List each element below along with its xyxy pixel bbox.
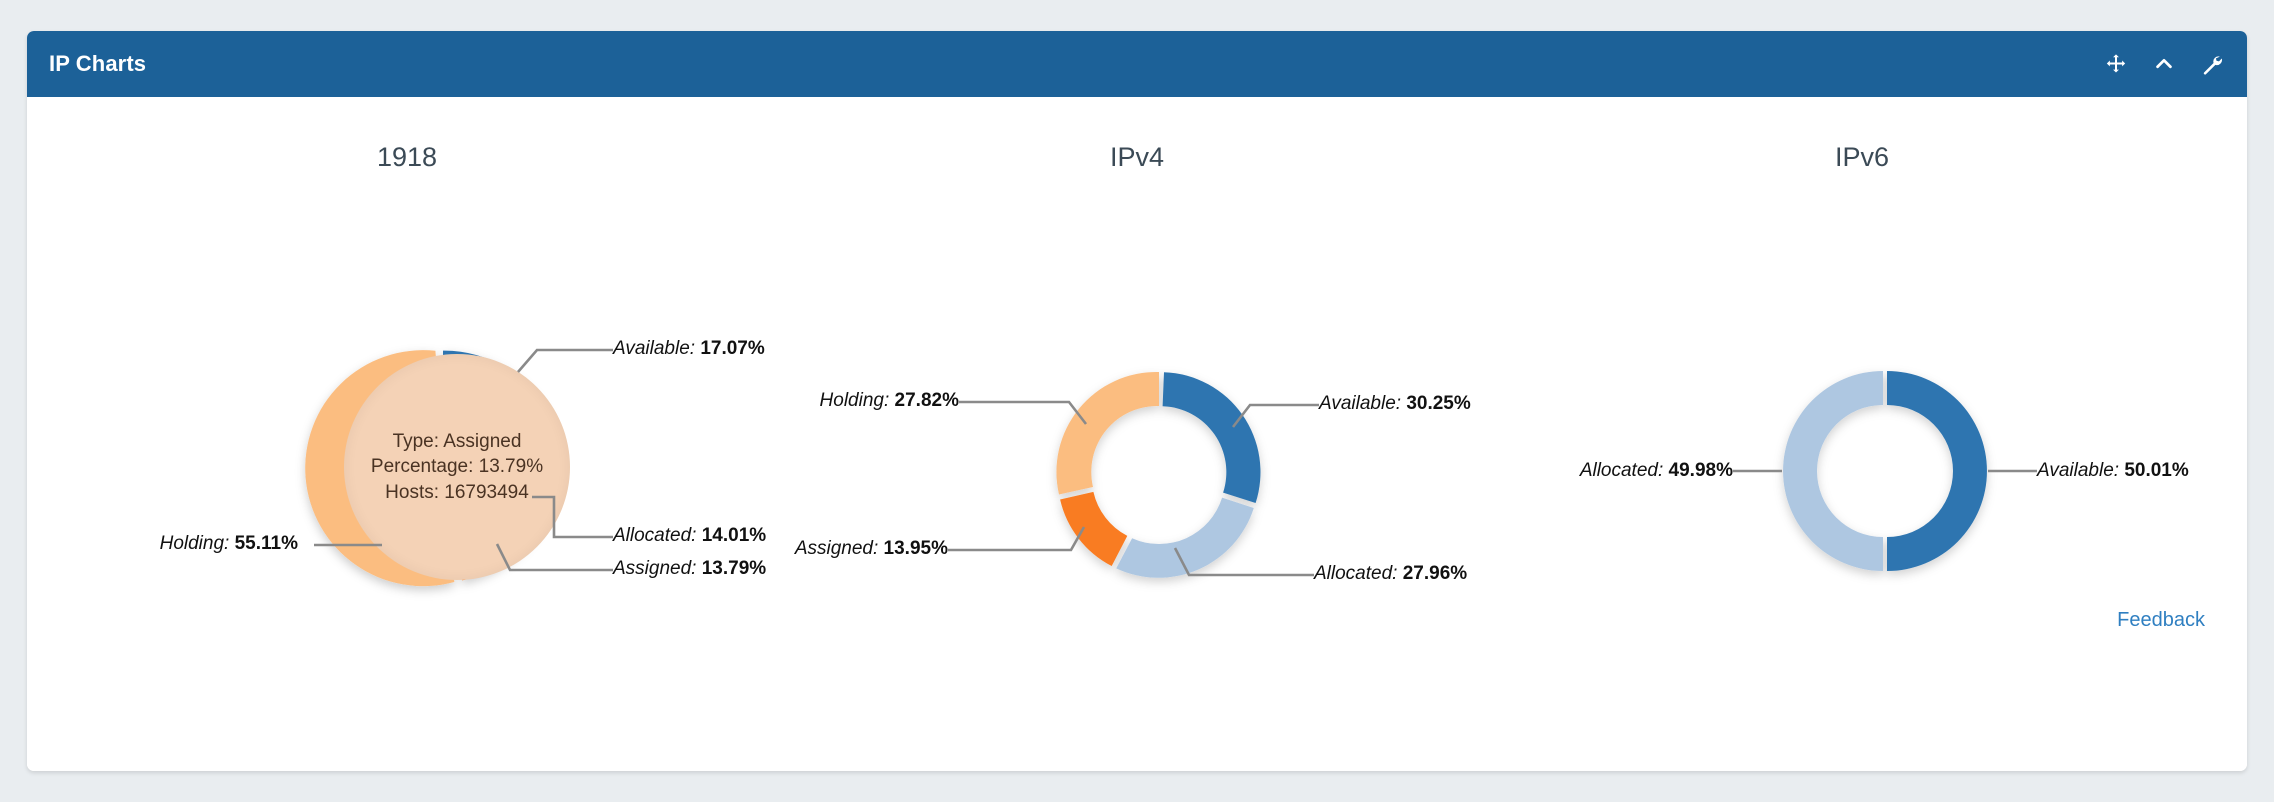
label-assigned: Assigned: 13.95% xyxy=(795,539,948,558)
label-assigned-name: Assigned: xyxy=(795,538,878,559)
label-available: Available: 30.25% xyxy=(1319,394,1471,413)
feedback-link[interactable]: Feedback xyxy=(2117,609,2205,632)
panel-title: IP Charts xyxy=(49,51,146,77)
label-available-value: 17.07% xyxy=(700,338,764,359)
label-assigned-value: 13.95% xyxy=(884,538,948,559)
label-available-value: 30.25% xyxy=(1406,393,1470,414)
label-available: Available: 17.07% xyxy=(613,339,765,358)
label-allocated-value: 14.01% xyxy=(702,525,766,546)
panel-toolbar xyxy=(2103,31,2225,97)
leader-lines xyxy=(1497,97,2227,567)
chart-ipv6: IPv6 xyxy=(1497,97,2227,567)
panel-body: 1918 xyxy=(27,97,2247,771)
label-allocated-name: Allocated: xyxy=(613,525,696,546)
donut-1918: Type: Assigned Percentage: 13.79% Hosts:… xyxy=(42,97,772,567)
label-allocated-value: 27.96% xyxy=(1403,563,1467,584)
label-holding-name: Holding: xyxy=(820,390,890,411)
chart-1918: 1918 xyxy=(42,97,772,567)
label-allocated: Allocated: 49.98% xyxy=(1580,461,1733,480)
leader-lines xyxy=(772,97,1502,567)
chevron-up-icon[interactable] xyxy=(2151,51,2177,77)
donut-ipv6: Available: 50.01% Allocated: 49.98% xyxy=(1497,97,2227,567)
chart-ipv4: IPv4 xyxy=(772,97,1502,567)
label-allocated: Allocated: 14.01% xyxy=(613,526,766,545)
label-available-value: 50.01% xyxy=(2124,460,2188,481)
settings-wrench-icon[interactable] xyxy=(2199,51,2225,77)
label-holding: Holding: 55.11% xyxy=(160,534,298,553)
charts-row: 1918 xyxy=(27,97,2247,567)
ip-charts-panel: IP Charts 1918 xyxy=(27,31,2247,771)
label-assigned-value: 13.79% xyxy=(702,558,766,579)
panel-header: IP Charts xyxy=(27,31,2247,97)
label-holding-value: 27.82% xyxy=(895,390,959,411)
label-holding-value: 55.11% xyxy=(235,533,298,554)
label-available: Available: 50.01% xyxy=(2037,461,2189,480)
label-available-name: Available: xyxy=(1319,393,1401,414)
label-allocated-name: Allocated: xyxy=(1580,460,1663,481)
label-assigned: Assigned: 13.79% xyxy=(613,559,766,578)
label-holding-name: Holding: xyxy=(160,533,230,554)
leader-lines xyxy=(42,97,772,567)
label-available-name: Available: xyxy=(613,338,695,359)
label-assigned-name: Assigned: xyxy=(613,558,696,579)
donut-ipv4: Available: 30.25% Allocated: 27.96% Assi… xyxy=(772,97,1502,567)
label-holding: Holding: 27.82% xyxy=(820,391,959,410)
label-allocated: Allocated: 27.96% xyxy=(1314,564,1467,583)
label-allocated-value: 49.98% xyxy=(1669,460,1733,481)
move-icon[interactable] xyxy=(2103,51,2129,77)
label-available-name: Available: xyxy=(2037,460,2119,481)
label-allocated-name: Allocated: xyxy=(1314,563,1397,584)
